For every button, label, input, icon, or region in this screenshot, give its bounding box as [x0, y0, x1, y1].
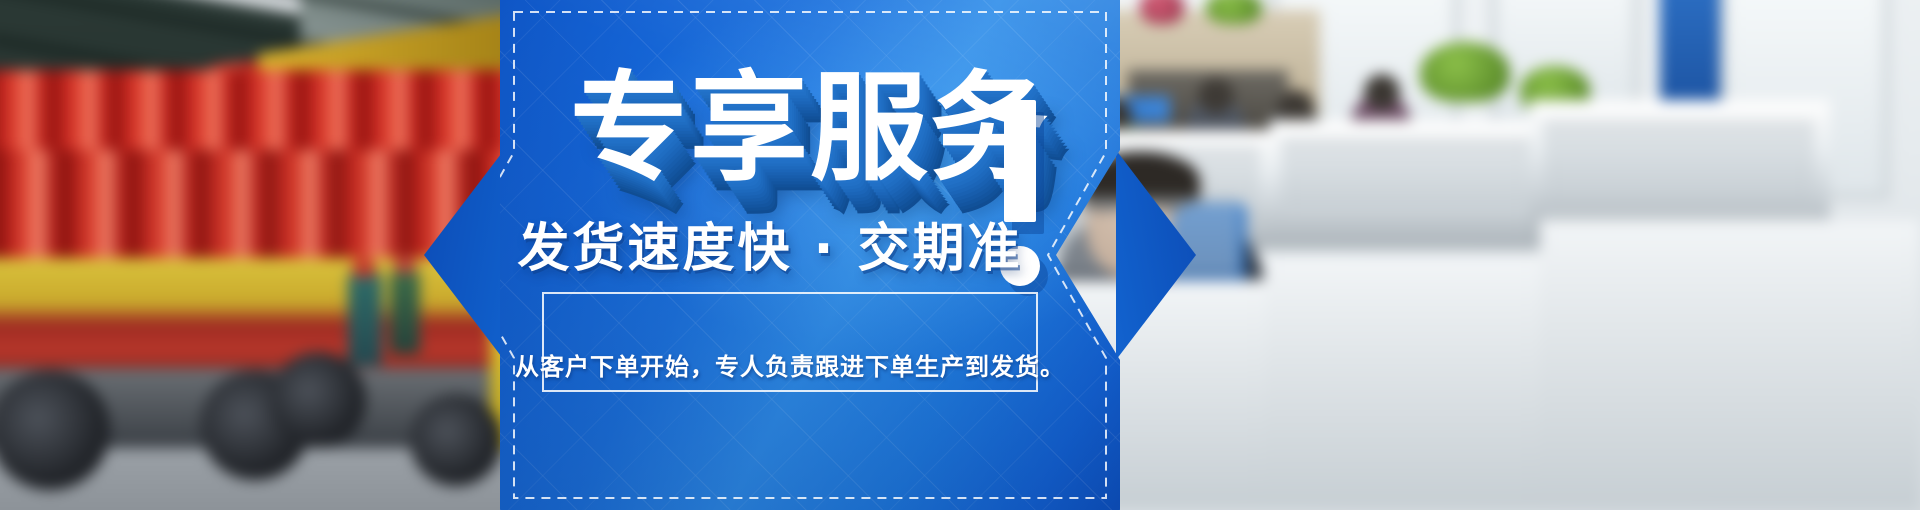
sub-title: 发货速度快 · 交期准	[500, 206, 1040, 281]
service-promo-banner: 专享服务 发货速度快 · 交期准 从客户下单开始，专人负责跟进下单生产到发货。	[0, 0, 1920, 510]
main-title: 专享服务	[570, 69, 1050, 187]
panel-content: 专享服务 发货速度快 · 交期准 从客户下单开始，专人负责跟进下单生产到发货。	[500, 0, 1120, 510]
description-text: 从客户下单开始，专人负责跟进下单生产到发货。	[515, 347, 1065, 382]
exclamation-bar	[1004, 100, 1036, 222]
description-box: 从客户下单开始，专人负责跟进下单生产到发货。	[542, 292, 1038, 392]
